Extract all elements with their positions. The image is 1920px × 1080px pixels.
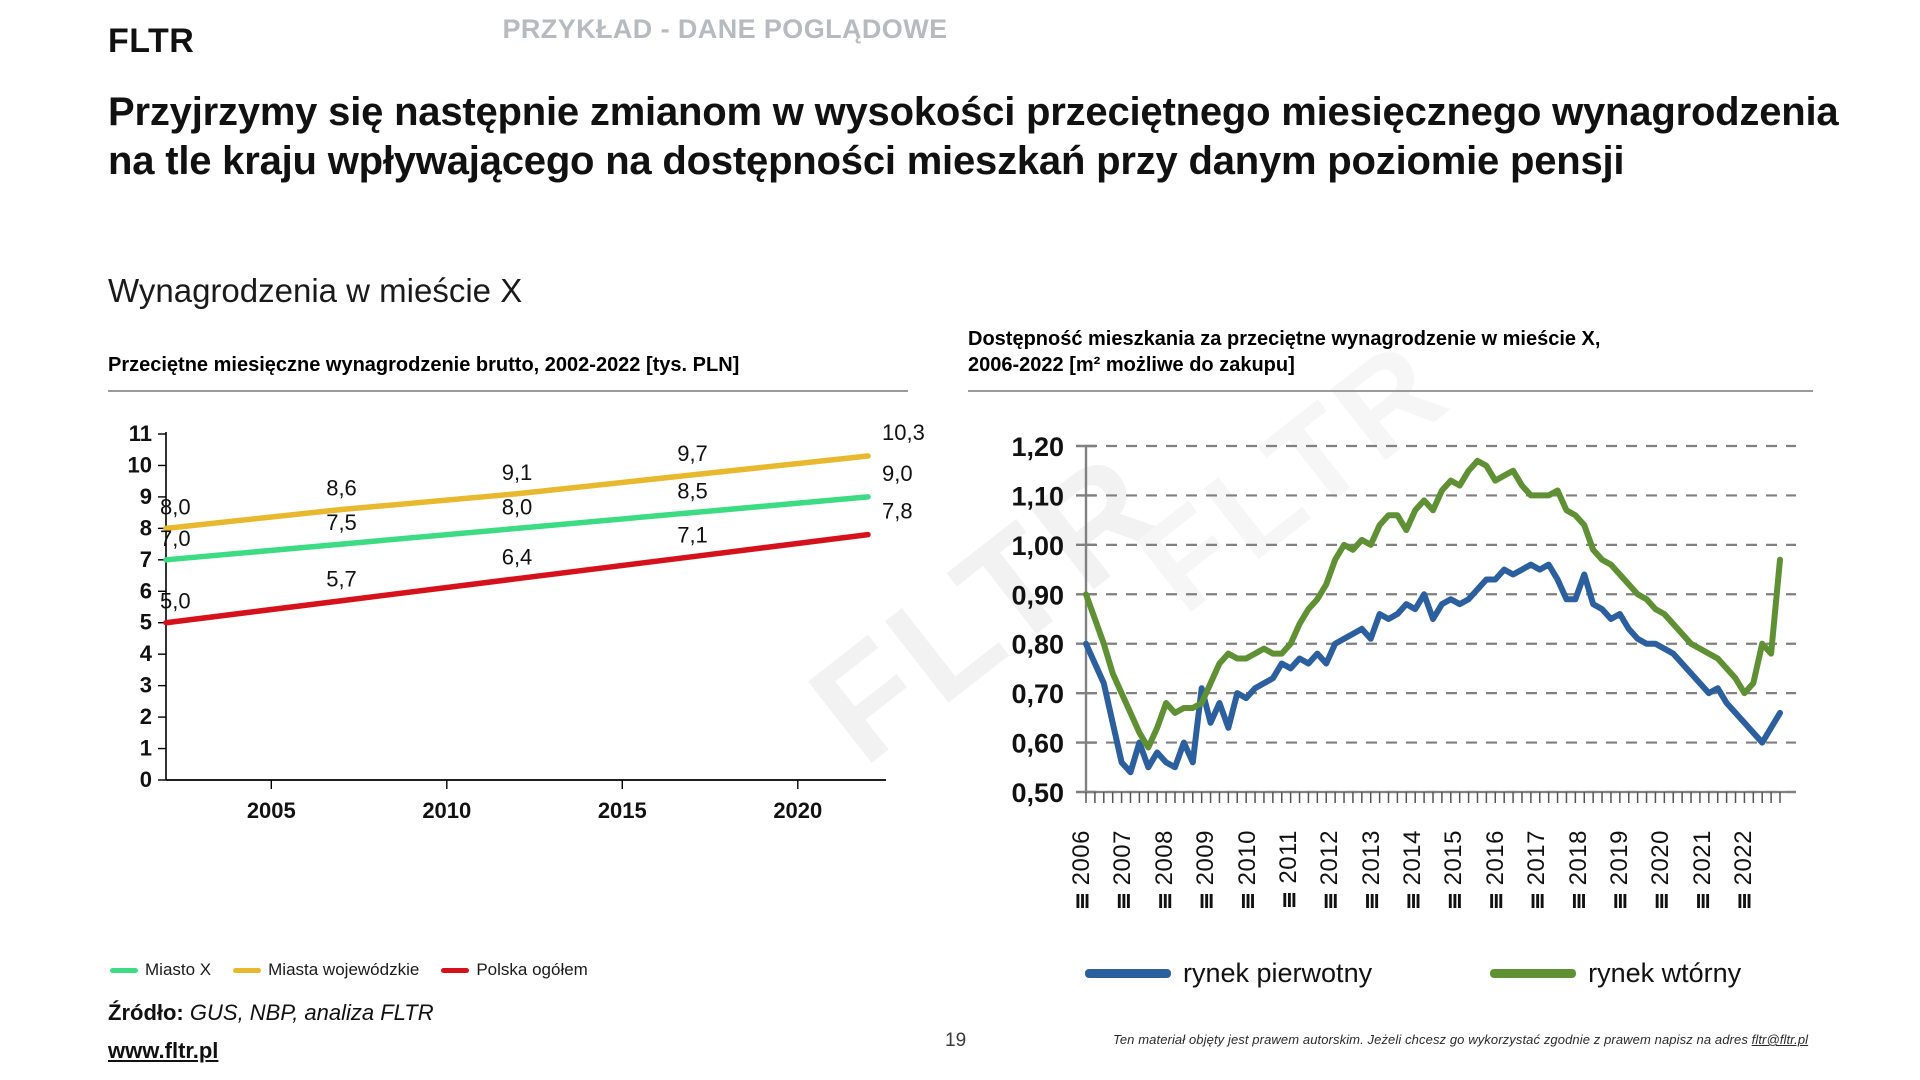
source-value: GUS, NBP, analiza FLTR bbox=[190, 1000, 434, 1025]
copyright-email[interactable]: fltr@fltr.pl bbox=[1752, 1032, 1809, 1047]
x-tick-quarter: III bbox=[1406, 891, 1420, 914]
example-tag: PRZYKŁAD - DANE POGLĄDOWE bbox=[0, 14, 1920, 45]
x-tick-2008: 2008III bbox=[1146, 830, 1184, 914]
svg-text:6: 6 bbox=[140, 578, 152, 603]
x-tick-year: 2017 bbox=[1523, 830, 1551, 885]
salary-line-chart: 0123456789101120052010201520208,08,69,19… bbox=[108, 420, 948, 900]
x-tick-year: 2013 bbox=[1358, 830, 1386, 885]
x-tick-year: 2009 bbox=[1192, 830, 1220, 885]
legend-swatch-blue bbox=[1085, 969, 1171, 978]
page-title: Przyjrzymy się następnie zmianom w wysok… bbox=[108, 88, 1848, 186]
svg-text:11: 11 bbox=[129, 421, 152, 446]
x-tick-year: 2012 bbox=[1316, 830, 1344, 885]
svg-text:0: 0 bbox=[140, 767, 152, 792]
svg-text:1,10: 1,10 bbox=[1011, 481, 1064, 511]
svg-text:8,6: 8,6 bbox=[326, 476, 357, 501]
x-tick-2012: 2012III bbox=[1311, 830, 1349, 914]
legend-label-rynek-wtorny: rynek wtórny bbox=[1588, 958, 1741, 989]
svg-text:8: 8 bbox=[140, 515, 152, 540]
svg-text:10,3: 10,3 bbox=[882, 420, 925, 445]
svg-text:9,0: 9,0 bbox=[882, 461, 913, 486]
x-tick-quarter: III bbox=[1158, 891, 1172, 914]
affordability-line-chart: 0,500,600,700,800,901,001,101,20 bbox=[968, 432, 1828, 832]
right-chart-divider bbox=[968, 390, 1813, 392]
svg-text:5,0: 5,0 bbox=[160, 589, 191, 614]
right-chart-title-line1: Dostępność mieszkania za przeciętne wyna… bbox=[968, 326, 1813, 352]
x-tick-2014: 2014III bbox=[1394, 830, 1432, 914]
x-tick-year: 2016 bbox=[1482, 830, 1510, 885]
svg-text:0,80: 0,80 bbox=[1011, 630, 1064, 660]
copyright-note: Ten materiał objęty jest prawem autorski… bbox=[1113, 1032, 1808, 1047]
x-tick-quarter: III bbox=[1489, 891, 1503, 914]
svg-text:8,0: 8,0 bbox=[160, 494, 191, 519]
legend-item-rynek-wtorny[interactable]: rynek wtórny bbox=[1490, 958, 1741, 989]
affordability-x-axis: 2006III2007III2008III2009III2010III2011I… bbox=[1063, 830, 1763, 950]
x-tick-2009: 2009III bbox=[1187, 830, 1225, 914]
svg-text:9: 9 bbox=[140, 484, 152, 509]
svg-text:3: 3 bbox=[140, 673, 152, 698]
x-tick-quarter: III bbox=[1323, 891, 1337, 914]
salary-chart-legend: Miasto X Miasta wojewódzkie Polska ogółe… bbox=[110, 960, 600, 980]
svg-text:5: 5 bbox=[140, 610, 152, 635]
svg-text:0,50: 0,50 bbox=[1011, 778, 1064, 808]
x-tick-quarter: III bbox=[1654, 891, 1668, 914]
svg-text:2005: 2005 bbox=[247, 798, 296, 823]
affordability-x-tick-labels: 2006III2007III2008III2009III2010III2011I… bbox=[1063, 830, 1763, 914]
svg-text:7: 7 bbox=[140, 547, 152, 572]
x-tick-2021: 2021III bbox=[1684, 830, 1722, 914]
x-tick-year: 2007 bbox=[1109, 830, 1137, 885]
x-tick-year: 2015 bbox=[1440, 830, 1468, 885]
x-tick-2011: 2011III bbox=[1270, 830, 1308, 914]
legend-label-polska-ogolem: Polska ogółem bbox=[476, 960, 588, 980]
x-tick-quarter: III bbox=[1365, 891, 1379, 914]
x-tick-2019: 2019III bbox=[1601, 830, 1639, 914]
legend-label-rynek-pierwotny: rynek pierwotny bbox=[1183, 958, 1372, 989]
x-tick-year: 2021 bbox=[1689, 830, 1717, 885]
svg-text:9,7: 9,7 bbox=[677, 441, 708, 466]
legend-item-polska-ogolem[interactable]: Polska ogółem bbox=[441, 960, 588, 980]
left-chart-divider bbox=[108, 390, 908, 392]
svg-text:1,00: 1,00 bbox=[1011, 531, 1064, 561]
legend-label-miasto-x: Miasto X bbox=[145, 960, 211, 980]
x-tick-2016: 2016III bbox=[1477, 830, 1515, 914]
left-chart-title: Przeciętne miesięczne wynagrodzenie brut… bbox=[108, 352, 908, 378]
right-chart-title: Dostępność mieszkania za przeciętne wyna… bbox=[968, 326, 1813, 378]
svg-text:2: 2 bbox=[140, 704, 152, 729]
legend-swatch-red bbox=[441, 968, 469, 973]
x-tick-quarter: III bbox=[1530, 891, 1544, 914]
legend-swatch-green bbox=[110, 968, 138, 973]
x-tick-2010: 2010III bbox=[1229, 830, 1267, 914]
svg-text:2015: 2015 bbox=[598, 798, 647, 823]
x-tick-year: 2022 bbox=[1730, 830, 1758, 885]
x-tick-year: 2006 bbox=[1068, 830, 1096, 885]
x-tick-quarter: III bbox=[1448, 891, 1462, 914]
svg-text:5,7: 5,7 bbox=[326, 567, 357, 592]
legend-item-rynek-pierwotny[interactable]: rynek pierwotny bbox=[1085, 958, 1372, 989]
x-tick-2022: 2022III bbox=[1725, 830, 1763, 914]
svg-text:4: 4 bbox=[140, 641, 153, 666]
x-tick-quarter: III bbox=[1696, 891, 1710, 914]
svg-text:9,1: 9,1 bbox=[502, 460, 533, 485]
svg-text:8,0: 8,0 bbox=[502, 494, 533, 519]
x-tick-2015: 2015III bbox=[1435, 830, 1473, 914]
x-tick-quarter: III bbox=[1737, 891, 1751, 914]
svg-text:0,60: 0,60 bbox=[1011, 729, 1064, 759]
svg-text:2010: 2010 bbox=[422, 798, 471, 823]
svg-text:1,20: 1,20 bbox=[1011, 432, 1064, 462]
x-tick-year: 2008 bbox=[1151, 830, 1179, 885]
left-chart-header: Przeciętne miesięczne wynagrodzenie brut… bbox=[108, 352, 908, 392]
section-subtitle: Wynagrodzenia w mieście X bbox=[108, 272, 522, 310]
legend-label-miasta-wojewodzkie: Miasta wojewódzkie bbox=[268, 960, 419, 980]
svg-text:0,90: 0,90 bbox=[1011, 580, 1064, 610]
legend-swatch-yellow bbox=[233, 968, 261, 973]
svg-text:7,1: 7,1 bbox=[677, 523, 708, 548]
x-tick-year: 2011 bbox=[1275, 830, 1303, 884]
page-number: 19 bbox=[945, 1030, 966, 1052]
svg-text:8,5: 8,5 bbox=[677, 479, 708, 504]
svg-text:7,5: 7,5 bbox=[326, 510, 357, 535]
svg-text:6,4: 6,4 bbox=[502, 545, 533, 570]
x-tick-2020: 2020III bbox=[1642, 830, 1680, 914]
affordability-chart-svg: 0,500,600,700,800,901,001,101,20 bbox=[968, 432, 1828, 832]
salary-chart-svg: 0123456789101120052010201520208,08,69,19… bbox=[108, 420, 948, 900]
x-tick-2007: 2007III bbox=[1104, 830, 1142, 914]
source-note: Źródło: GUS, NBP, analiza FLTR bbox=[108, 1000, 434, 1026]
legend-swatch-green-dark bbox=[1490, 969, 1576, 978]
x-tick-quarter: III bbox=[1199, 891, 1213, 914]
x-tick-quarter: III bbox=[1613, 891, 1627, 914]
x-tick-quarter: III bbox=[1241, 891, 1255, 914]
legend-item-miasto-x[interactable]: Miasto X bbox=[110, 960, 211, 980]
x-tick-quarter: III bbox=[1075, 891, 1089, 914]
svg-text:7,0: 7,0 bbox=[160, 526, 191, 551]
svg-text:10: 10 bbox=[128, 452, 152, 477]
x-tick-year: 2019 bbox=[1606, 830, 1634, 885]
x-tick-quarter: III bbox=[1282, 890, 1296, 913]
svg-text:2020: 2020 bbox=[773, 798, 822, 823]
x-tick-year: 2018 bbox=[1565, 830, 1593, 885]
svg-text:0,70: 0,70 bbox=[1011, 679, 1064, 709]
x-tick-2018: 2018III bbox=[1560, 830, 1598, 914]
x-tick-year: 2020 bbox=[1647, 830, 1675, 885]
x-tick-quarter: III bbox=[1572, 891, 1586, 914]
svg-text:1: 1 bbox=[140, 736, 152, 761]
copyright-text: Ten materiał objęty jest prawem autorski… bbox=[1113, 1032, 1752, 1047]
x-tick-year: 2014 bbox=[1399, 830, 1427, 885]
right-chart-header: Dostępność mieszkania za przeciętne wyna… bbox=[968, 326, 1813, 392]
legend-item-miasta-wojewodzkie[interactable]: Miasta wojewódzkie bbox=[233, 960, 419, 980]
website-link[interactable]: www.fltr.pl bbox=[108, 1038, 218, 1064]
right-chart-title-line2: 2006-2022 [m² możliwe do zakupu] bbox=[968, 352, 1813, 378]
x-tick-quarter: III bbox=[1117, 891, 1131, 914]
x-tick-2013: 2013III bbox=[1353, 830, 1391, 914]
source-label: Źródło: bbox=[108, 1000, 184, 1025]
x-tick-2006: 2006III bbox=[1063, 830, 1101, 914]
slide: FLTR FLTR FLTR PRZYKŁAD - DANE POGLĄDOWE… bbox=[0, 0, 1920, 1080]
affordability-chart-legend: rynek pierwotny rynek wtórny bbox=[1085, 958, 1741, 989]
x-tick-year: 2010 bbox=[1234, 830, 1262, 885]
x-tick-2017: 2017III bbox=[1518, 830, 1556, 914]
svg-text:7,8: 7,8 bbox=[882, 499, 913, 524]
